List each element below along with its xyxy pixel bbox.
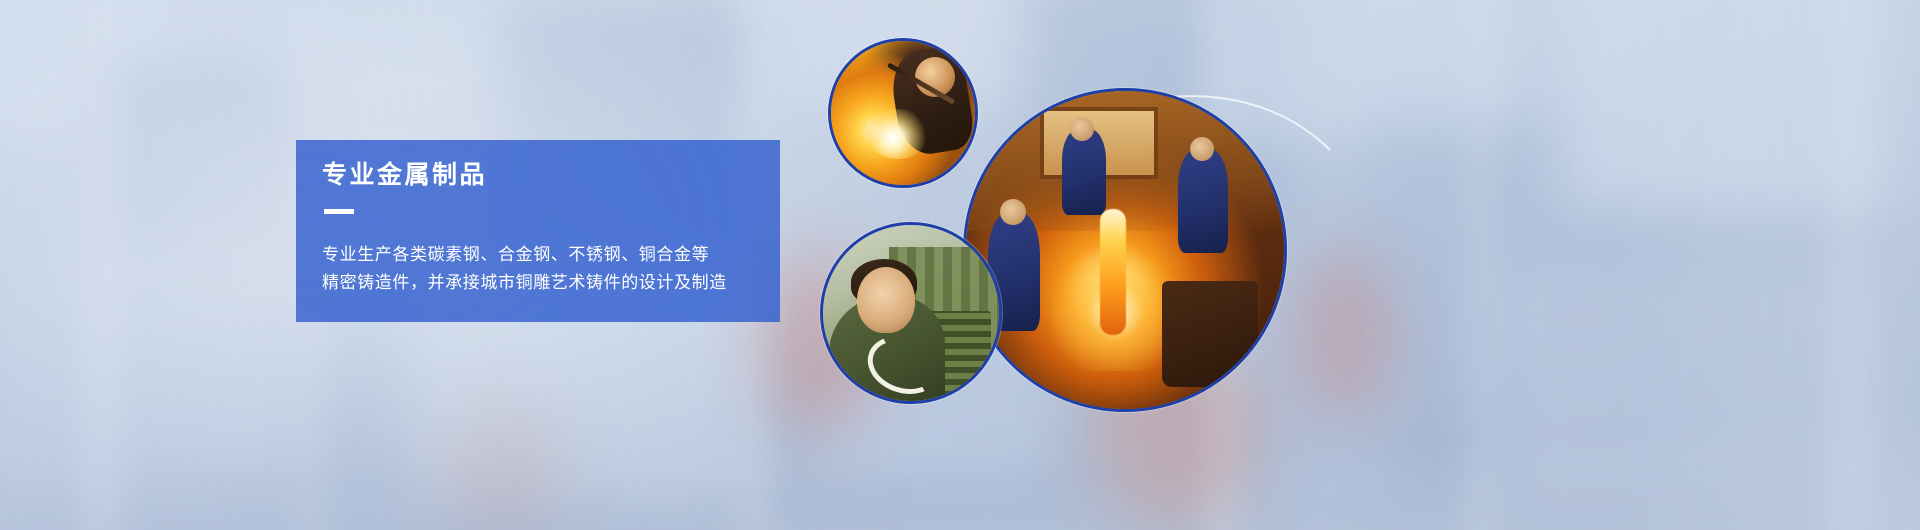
hero-description-line-1: 专业生产各类碳素钢、合金钢、不锈钢、铜合金等 xyxy=(322,242,780,270)
foundry-pouring-photo xyxy=(963,88,1287,412)
hero-text-panel: 专业金属制品 专业生产各类碳素钢、合金钢、不锈钢、铜合金等 精密铸造件，并承接城… xyxy=(296,140,780,322)
title-underline-rule xyxy=(324,209,354,214)
hero-description: 专业生产各类碳素钢、合金钢、不锈钢、铜合金等 精密铸造件，并承接城市铜雕艺术铸件… xyxy=(322,242,780,297)
photo-cluster xyxy=(0,0,1920,530)
hero-banner: 专业金属制品 专业生产各类碳素钢、合金钢、不锈钢、铜合金等 精密铸造件，并承接城… xyxy=(0,0,1920,530)
hero-description-line-2: 精密铸造件，并承接城市铜雕艺术铸件的设计及制造 xyxy=(322,270,780,298)
page-title: 专业金属制品 xyxy=(322,162,780,187)
welding-worker-photo xyxy=(828,38,978,188)
workbench-worker-photo xyxy=(820,222,1002,404)
